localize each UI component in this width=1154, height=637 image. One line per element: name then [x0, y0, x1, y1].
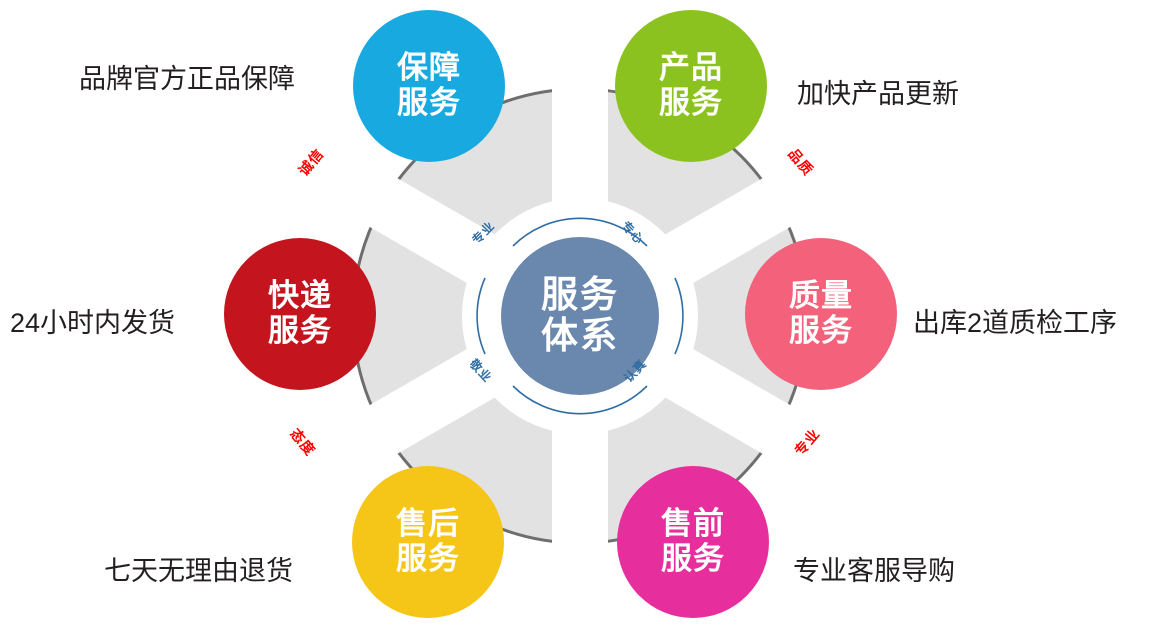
service-bubble-line2: 服务 [789, 314, 853, 349]
service-bubble-line2: 服务 [268, 314, 332, 349]
caption-shouqian: 专业客服导购 [793, 549, 955, 588]
service-bubble-line2: 服务 [396, 542, 460, 577]
service-bubble-zhiliang[interactable]: 质量 服务 [745, 238, 897, 390]
service-bubble-line2: 服务 [659, 86, 723, 121]
service-bubble-baozhang[interactable]: 保障 服务 [353, 10, 505, 162]
service-bubble-line1: 售后 [396, 507, 460, 542]
service-bubble-line1: 保障 [397, 51, 461, 86]
caption-zhiliang: 出库2道质检工序 [913, 301, 1117, 340]
service-bubble-line1: 售前 [661, 507, 725, 542]
caption-baozhang: 品牌官方正品保障 [79, 57, 295, 96]
center-hub-line2: 体系 [541, 316, 619, 357]
service-bubble-line2: 服务 [397, 86, 461, 121]
caption-chanpin: 加快产品更新 [797, 72, 959, 111]
caption-kuaidi: 24小时内发货 [10, 301, 175, 340]
service-bubble-line1: 产品 [659, 51, 723, 86]
service-bubble-shouqian[interactable]: 售前 服务 [617, 466, 769, 618]
service-bubble-kuaidi[interactable]: 快递 服务 [224, 238, 376, 390]
center-hub-line1: 服务 [541, 275, 619, 316]
service-bubble-shouhou[interactable]: 售后 服务 [352, 466, 504, 618]
service-bubble-line1: 质量 [789, 279, 853, 314]
service-system-diagram: 服务 体系 专业 专心 敬业 认真 诚信 品质 态度 专业 保障 服务 产品 服… [0, 0, 1154, 637]
service-bubble-chanpin[interactable]: 产品 服务 [615, 10, 767, 162]
caption-shouhou: 七天无理由退货 [104, 549, 293, 588]
service-bubble-line2: 服务 [661, 542, 725, 577]
service-bubble-line1: 快递 [268, 279, 332, 314]
